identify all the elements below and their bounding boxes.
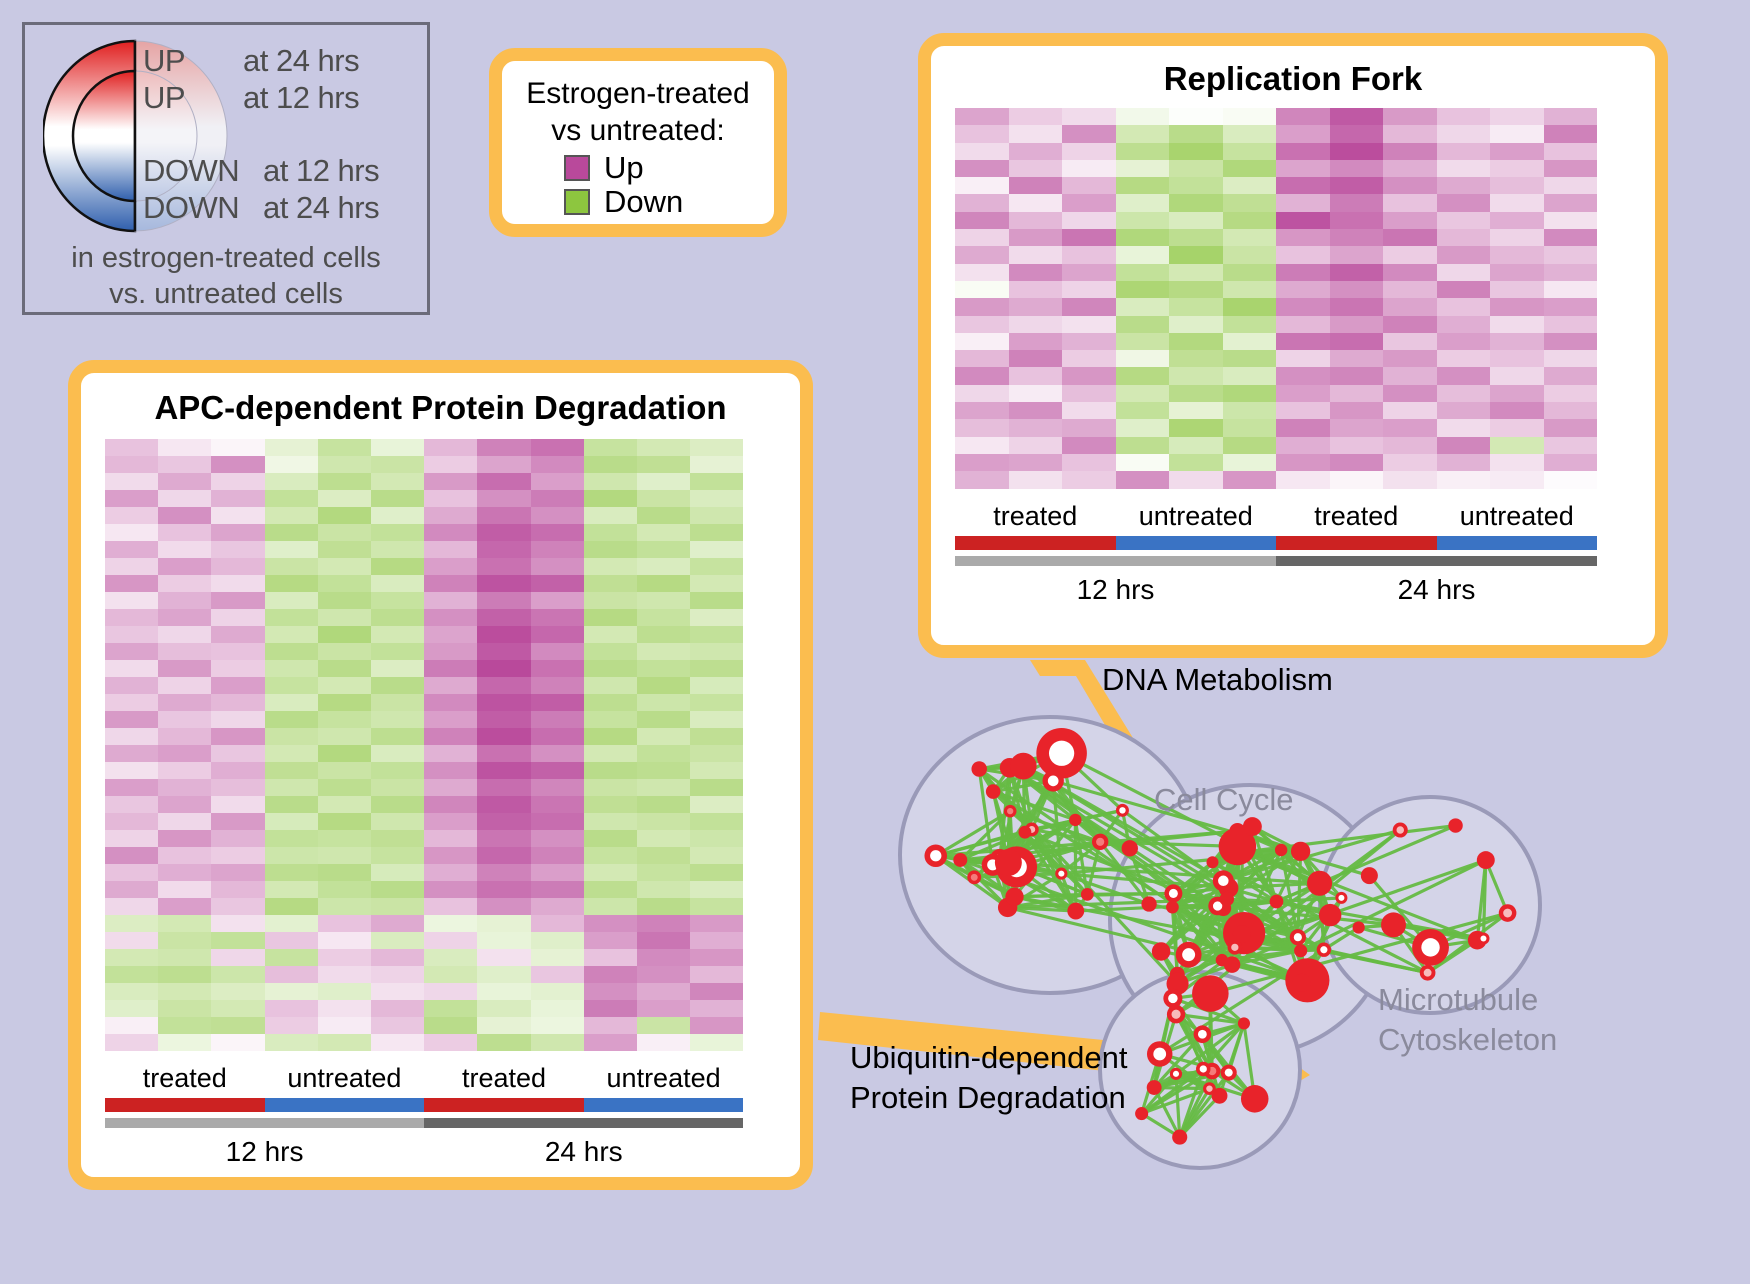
heatmap-cell [371,558,424,575]
heatmap-cell [318,490,371,507]
heatmap-cell [955,229,1009,246]
heatmap-cell [1223,437,1277,454]
heatmap-cell [1169,177,1223,194]
heatmap-cell [955,160,1009,177]
network-node[interactable] [1036,728,1087,779]
heatmap-cell [1276,264,1330,281]
heatmap-cell [211,813,264,830]
network-node[interactable] [1361,867,1378,884]
heatmap-cell [1009,143,1063,160]
heatmap-cell [531,575,584,592]
heatmap-cell [318,1000,371,1017]
heatmap-cell [318,541,371,558]
heatmap-cell [1490,125,1544,142]
heatmap-cell [531,626,584,643]
heatmap-cell [105,592,158,609]
heatmap-cell [424,830,477,847]
heatmap-cell [1116,229,1170,246]
network-node[interactable] [1477,851,1495,869]
heatmap-cell [637,779,690,796]
heatmap-cell [1223,212,1277,229]
heatmap-cell [371,932,424,949]
heatmap-cell [477,626,530,643]
network-node[interactable] [1141,896,1156,911]
heatmap-cell [955,454,1009,471]
heatmap-cell [211,575,264,592]
network-node[interactable] [1147,1041,1173,1067]
heatmap-cell [637,949,690,966]
network-node[interactable] [1381,912,1406,937]
heatmap-cell [1437,143,1491,160]
network-node[interactable] [1224,956,1241,973]
network-node[interactable] [1069,814,1081,826]
heatmap-cell [584,745,637,762]
network-node-outer [986,784,1001,799]
heatmap-cell [371,490,424,507]
heatmap-cell [477,643,530,660]
heatmap-cell [158,490,211,507]
network-node[interactable] [1477,933,1489,945]
network-node[interactable] [1221,1065,1237,1081]
heatmap-cell [477,762,530,779]
heatmap-cell [477,456,530,473]
heatmap-cell [1490,177,1544,194]
heatmap-cell [1169,367,1223,384]
heatmap-cell [265,830,318,847]
heatmap-cell [584,626,637,643]
heatmap-cell [1437,298,1491,315]
heatmap-cell [1544,437,1598,454]
heatmap-cell [1276,212,1330,229]
heatmap-cell [1276,316,1330,333]
heatmap-cell [105,1017,158,1034]
group-label-untreated-1: untreated [265,1063,425,1094]
heatmap-cell [477,949,530,966]
heatmap-cell [477,864,530,881]
heatmap-cell [584,932,637,949]
heatmap-cell [424,609,477,626]
heatmap-cell [637,728,690,745]
heatmap-cell [955,194,1009,211]
network-node[interactable] [924,844,947,867]
apc-dependent-protein-degradation-group-labels: treateduntreatedtreateduntreated [105,1063,743,1094]
heatmap-cell [158,898,211,915]
heatmap-cell [158,473,211,490]
network-node[interactable] [1147,1080,1162,1095]
network-node[interactable] [1228,940,1242,954]
network-node[interactable] [1499,904,1517,922]
heatmap-cell [1383,212,1437,229]
network-node[interactable] [1319,904,1341,926]
heatmap-cell [1544,264,1598,281]
group-label-treated-2: treated [1276,501,1437,532]
heatmap-cell [690,813,743,830]
network-node[interactable] [986,784,1001,799]
heatmap-cell [477,915,530,932]
heatmap-cell [158,439,211,456]
heatmap-cell [637,915,690,932]
network-node-outer [1172,1130,1187,1145]
heatmap-cell [211,983,264,1000]
heatmap-cell [477,1017,530,1034]
heatmap-cell [105,983,158,1000]
heatmap-cell [1223,419,1277,436]
heatmap-cell [158,677,211,694]
heatmap-cell [265,779,318,796]
heatmap-cell [637,932,690,949]
heatmap-cell [1169,108,1223,125]
network-node[interactable] [1241,1085,1269,1113]
network-node[interactable] [1275,844,1287,856]
heatmap-cell [158,864,211,881]
heatmap-cell [1223,143,1277,160]
heatmap-cell [371,1034,424,1051]
heatmap-cell [637,1000,690,1017]
network-node-inner [1421,938,1439,956]
heatmap-cell [318,762,371,779]
heatmap-cell [531,728,584,745]
heatmap-cell [477,1034,530,1051]
color-key-caption-line1: in estrogen-treated cells [25,240,427,276]
network-edge [1154,1088,1209,1089]
heatmap-cell [690,660,743,677]
heatmap-cell [158,507,211,524]
heatmap-cell [477,677,530,694]
heatmap-cell [318,1034,371,1051]
network-node[interactable] [1238,1017,1250,1029]
heatmap-cell [424,966,477,983]
network-node[interactable] [1005,888,1023,906]
heatmap-cell [1062,454,1116,471]
heatmap-cell [1062,402,1116,419]
heatmap-cell [1116,471,1170,488]
network-node[interactable] [1290,929,1306,945]
apc-degradation-title: APC-dependent Protein Degradation [81,389,800,427]
heatmap-cell [584,558,637,575]
group-bar-untreated-3 [584,1098,744,1112]
network-node-inner [1049,741,1074,766]
heatmap-cell [1062,177,1116,194]
heatmap-cell [1437,402,1491,419]
network-node[interactable] [1172,1130,1187,1145]
network-node[interactable] [1081,888,1094,901]
legend-label-up: Up [604,152,644,183]
heatmap-cell [371,915,424,932]
network-node[interactable] [1353,921,1365,933]
network-node[interactable] [1448,818,1462,832]
network-node[interactable] [1192,975,1229,1012]
legend-label-down: Down [604,186,683,217]
network-node[interactable] [1294,944,1307,957]
heatmap-cell [584,592,637,609]
apc-degradation-panel: APC-dependent Protein Degradation treate… [68,360,813,1190]
network-node[interactable] [1220,892,1234,906]
heatmap-cell [1062,333,1116,350]
heatmap-cell [531,592,584,609]
heatmap-cell [158,966,211,983]
network-node[interactable] [953,853,967,867]
network-node[interactable] [1170,1068,1182,1080]
network-node[interactable] [1203,1082,1216,1095]
network-node[interactable] [1166,901,1179,914]
heatmap-cell [1276,125,1330,142]
heatmap-cell [1490,350,1544,367]
heatmap-cell [1383,194,1437,211]
heatmap-cell [1116,350,1170,367]
heatmap-cell [105,762,158,779]
heatmap-cell [211,1034,264,1051]
replication-fork-panel: Replication Fork treateduntreatedtreated… [918,33,1668,658]
heatmap-cell [531,643,584,660]
network-node[interactable] [1243,817,1262,836]
heatmap-cell [318,932,371,949]
network-node-outer [953,853,967,867]
network-node[interactable] [1420,965,1436,981]
heatmap-cell [690,745,743,762]
heatmap-cell [1383,419,1437,436]
heatmap-cell [1330,316,1384,333]
network-node[interactable] [1307,871,1332,896]
heatmap-cell [158,558,211,575]
heatmap-cell [477,881,530,898]
heatmap-cell [1490,454,1544,471]
heatmap-cell [1276,454,1330,471]
heatmap-cell [424,677,477,694]
heatmap-cell [1223,402,1277,419]
heatmap-cell [477,507,530,524]
heatmap-cell [584,949,637,966]
heatmap-cell [265,949,318,966]
network-node[interactable] [1092,834,1108,850]
heatmap-cell [158,456,211,473]
network-node[interactable] [1412,929,1449,966]
network-node-outer [1275,844,1287,856]
heatmap-cell [955,143,1009,160]
heatmap-cell [1437,385,1491,402]
heatmap-cell [371,813,424,830]
heatmap-cell [371,728,424,745]
heatmap-cell [584,575,637,592]
network-node-inner [1206,1085,1212,1091]
heatmap-cell [690,779,743,796]
heatmap-cell [1009,212,1063,229]
heatmap-cell [211,1000,264,1017]
heatmap-cell [1223,108,1277,125]
heatmap-cell [1383,108,1437,125]
heatmap-cell [1490,385,1544,402]
network-node-outer [1122,840,1138,856]
heatmap-cell [1544,194,1598,211]
network-node-inner [1424,969,1432,977]
network-node[interactable] [1018,826,1031,839]
time-label-12-hrs-0: 12 hrs [105,1136,424,1168]
network-node[interactable] [1167,1005,1185,1023]
heatmap-cell [1009,298,1063,315]
network-node[interactable] [1291,842,1310,861]
network-node[interactable] [1176,942,1202,968]
color-key-time-up-12: at 12 hrs [243,80,359,116]
heatmap-cell [265,966,318,983]
network-node[interactable] [1293,974,1311,992]
network-node[interactable] [1196,1062,1211,1077]
heatmap-cell [1276,229,1330,246]
network-node[interactable] [1004,805,1017,818]
heatmap-cell [1223,385,1277,402]
heatmap-cell [584,473,637,490]
heatmap-cell [1383,143,1437,160]
heatmap-cell [584,677,637,694]
network-node[interactable] [1317,943,1331,957]
heatmap-cell [265,694,318,711]
heatmap-cell [584,830,637,847]
heatmap-cell [531,932,584,949]
network-node[interactable] [1010,753,1037,780]
network-node[interactable] [1163,989,1182,1008]
heatmap-cell [690,830,743,847]
heatmap-cell [424,813,477,830]
heatmap-cell [531,439,584,456]
network-node[interactable] [1164,884,1182,902]
time-bar-24-hrs-1 [424,1118,743,1128]
heatmap-cell [105,949,158,966]
replication-fork-group-labels: treateduntreatedtreateduntreated [955,501,1597,532]
heatmap-cell [1437,471,1491,488]
heatmap-cell [1169,229,1223,246]
heatmap-cell [1330,143,1384,160]
network-node-outer [1477,851,1495,869]
heatmap-cell [1009,471,1063,488]
heatmap-cell [477,728,530,745]
replication-fork-time-labels: 12 hrs24 hrs [955,574,1597,606]
network-node-inner [1058,871,1064,877]
network-node[interactable] [1135,1107,1148,1120]
heatmap-cell [424,898,477,915]
network-node-outer [1307,871,1332,896]
heatmap-cell [637,711,690,728]
heatmap-cell [1169,471,1223,488]
heatmap-cell [1223,350,1277,367]
heatmap-cell [424,847,477,864]
network-node[interactable] [1055,868,1067,880]
network-node[interactable] [971,761,987,777]
network-node-inner [1294,933,1302,941]
network-node-outer [1069,814,1081,826]
heatmap-cell [318,915,371,932]
network-node-outer [1067,903,1084,920]
heatmap-cell [158,847,211,864]
heatmap-cell [1062,194,1116,211]
heatmap-cell [1383,471,1437,488]
network-node[interactable] [1042,770,1063,791]
heatmap-cell [1544,402,1598,419]
network-node[interactable] [1335,892,1347,904]
network-node-inner [930,850,941,861]
heatmap-cell [637,660,690,677]
heatmap-cell [1116,194,1170,211]
heatmap-cell [690,609,743,626]
heatmap-cell [1223,264,1277,281]
heatmap-cell [1330,350,1384,367]
heatmap-cell [211,932,264,949]
heatmap-cell [690,524,743,541]
heatmap-cell [637,864,690,881]
heatmap-cell [1490,143,1544,160]
heatmap-cell [211,439,264,456]
heatmap-cell [158,694,211,711]
heatmap-cell [105,473,158,490]
heatmap-cell [1116,367,1170,384]
network-node[interactable] [967,870,981,884]
heatmap-cell [371,779,424,796]
heatmap-cell [105,711,158,728]
heatmap-cell [1062,419,1116,436]
heatmap-cell [477,745,530,762]
heatmap-cell [1330,264,1384,281]
network-node-outer [1141,896,1156,911]
network-node[interactable] [1270,895,1284,909]
heatmap-cell [424,660,477,677]
network-node[interactable] [1122,840,1138,856]
network-node[interactable] [1194,1025,1212,1043]
heatmap-cell [477,609,530,626]
heatmap-cell [105,966,158,983]
heatmap-cell [1223,246,1277,263]
heatmap-cell [690,677,743,694]
heatmap-cell [584,711,637,728]
network-node[interactable] [1067,903,1084,920]
heatmap-cell [1169,454,1223,471]
color-key-caption: in estrogen-treated cells vs. untreated … [25,240,427,312]
heatmap-cell [211,864,264,881]
heatmap-cell [690,643,743,660]
group-label-untreated-3: untreated [1437,501,1598,532]
network-node[interactable] [1116,804,1129,817]
network-node-inner [971,874,978,881]
heatmap-cell [637,830,690,847]
heatmap-cell [371,1000,424,1017]
heatmap-cell [318,728,371,745]
replication-fork-time-bars [955,556,1597,566]
heatmap-cell [318,898,371,915]
heatmap-cell [531,745,584,762]
heatmap-cell [211,490,264,507]
network-node-outer [971,761,987,777]
heatmap-cell [371,677,424,694]
heatmap-cell [1276,367,1330,384]
heatmap-cell [531,507,584,524]
heatmap-cell [211,779,264,796]
heatmap-cell [1009,437,1063,454]
network-node[interactable] [1213,870,1234,891]
heatmap-cell [1169,298,1223,315]
heatmap-cell [158,1034,211,1051]
heatmap-cell [477,796,530,813]
heatmap-cell [1062,229,1116,246]
heatmap-cell [211,796,264,813]
network-node[interactable] [1393,822,1408,837]
legend-entry-down: Down [564,186,774,217]
network-node-inner [1173,1071,1179,1077]
group-label-treated-0: treated [105,1063,265,1094]
heatmap-cell [318,694,371,711]
network-node[interactable] [1206,856,1218,868]
network-node[interactable] [995,849,1022,876]
heatmap-cell [424,1017,477,1034]
network-node[interactable] [1152,942,1171,961]
heatmap-cell [1223,177,1277,194]
heatmap-cell [318,473,371,490]
heatmap-cell [531,1034,584,1051]
